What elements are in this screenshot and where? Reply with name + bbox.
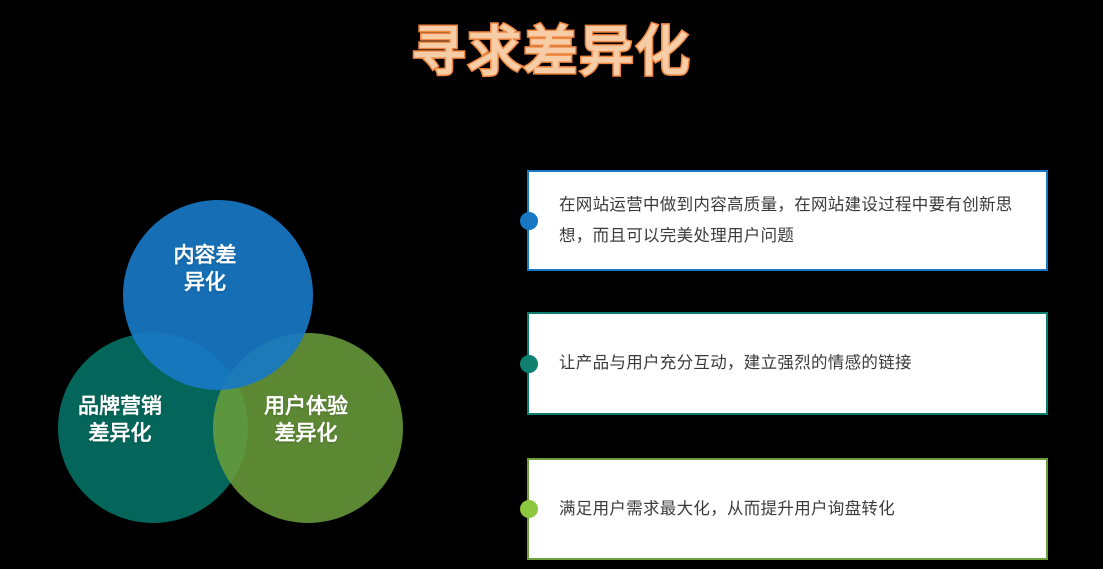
callout-box-ux[interactable]: 满足用户需求最大化，从而提升用户询盘转化 [527,458,1048,560]
venn-diagram: 内容差 异化 品牌营销 差异化 用户体验 差异化 [28,175,458,550]
callout-box-content[interactable]: 在网站运营中做到内容高质量，在网站建设过程中要有创新思想，而且可以完美处理用户问… [527,170,1048,271]
callout-text-ux: 满足用户需求最大化，从而提升用户询盘转化 [529,494,921,525]
callout-text-brand: 让产品与用户充分互动，建立强烈的情感的链接 [529,348,938,379]
venn-circle-content[interactable] [123,200,313,390]
page-title: 寻求差异化 [0,20,1103,84]
callout-bullet-dot-brand [520,355,538,373]
callout-bullet-dot-content [520,212,538,230]
callout-bullet-dot-ux [520,500,538,518]
slide-canvas: 寻求差异化 内容差 异化 品牌营销 差异化 用户体验 差异化 在网站运营中做到内… [0,0,1103,569]
venn-diagram-svg [28,175,458,550]
callout-box-brand[interactable]: 让产品与用户充分互动，建立强烈的情感的链接 [527,312,1048,415]
callout-text-content: 在网站运营中做到内容高质量，在网站建设过程中要有创新思想，而且可以完美处理用户问… [529,190,1046,252]
